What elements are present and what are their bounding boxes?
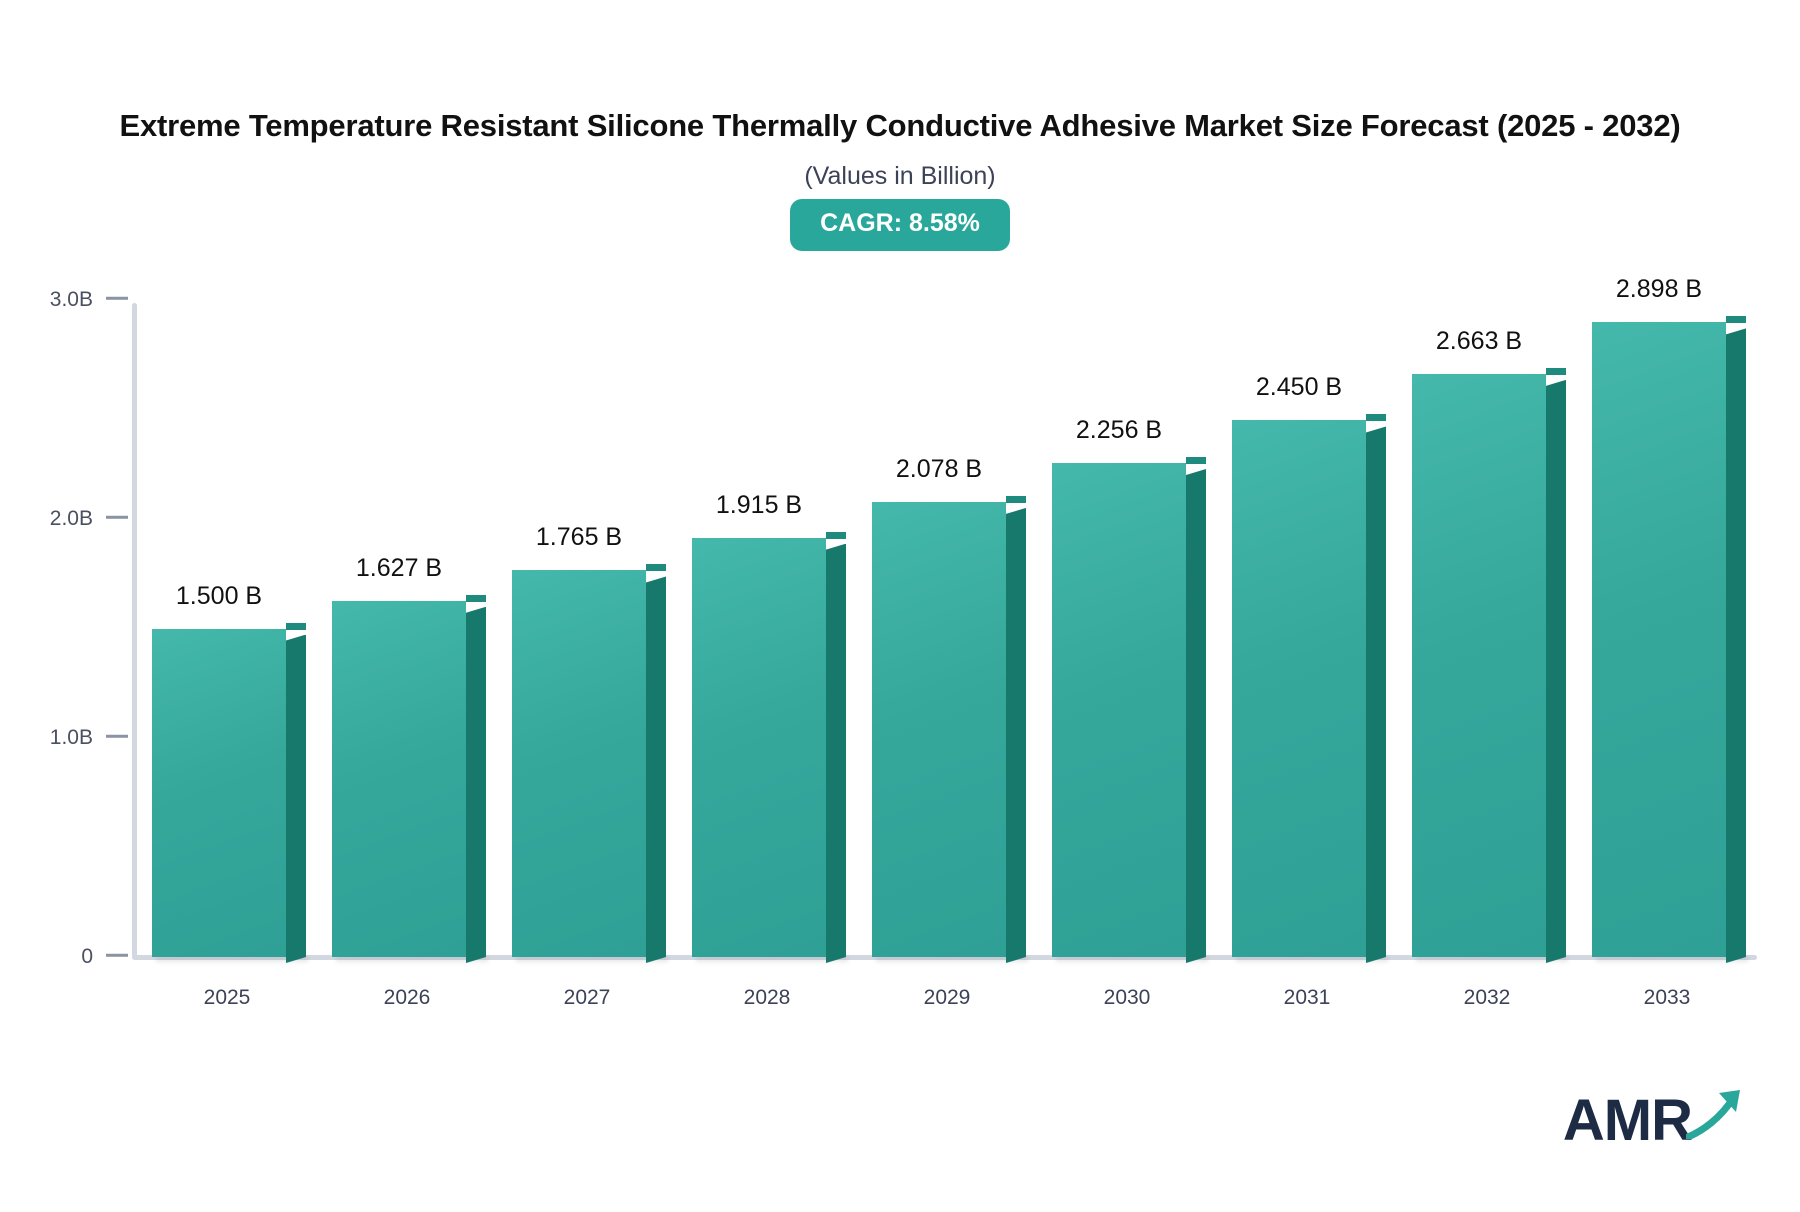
bar-value-label: 1.915 B	[716, 491, 802, 520]
bar[interactable]	[1592, 322, 1726, 957]
bar[interactable]	[1232, 420, 1366, 957]
y-axis-tick: 3.0B	[0, 288, 128, 312]
bar-value-label: 1.500 B	[176, 582, 262, 611]
x-axis-tick-label: 2027	[564, 986, 611, 1010]
y-axis-tick: 1.0B	[0, 726, 128, 750]
bar-top-face	[1726, 316, 1746, 323]
bar-side-face	[826, 544, 846, 963]
amr-logo: AMR	[1563, 1087, 1748, 1150]
bar-front-face	[1412, 374, 1546, 957]
x-axis-tick-label: 2032	[1464, 986, 1511, 1010]
bar[interactable]	[1052, 463, 1186, 957]
bar[interactable]	[512, 570, 646, 957]
y-axis-tick: 0	[0, 945, 128, 969]
bar-value-label: 2.078 B	[896, 455, 982, 484]
bar-value-label: 1.627 B	[356, 554, 442, 583]
x-axis-tick-label: 2028	[744, 986, 791, 1010]
bar-value-label: 2.450 B	[1256, 373, 1342, 402]
bar-front-face	[692, 538, 826, 957]
bar-front-face	[1052, 463, 1186, 957]
y-axis-tick-label: 0	[81, 945, 93, 968]
bar-top-face	[646, 564, 666, 571]
bar-value-label: 2.663 B	[1436, 327, 1522, 356]
growth-arrow-icon	[1686, 1087, 1748, 1144]
y-axis-tick-mark	[106, 297, 128, 300]
x-axis-tick-label: 2031	[1284, 986, 1331, 1010]
chart-plot-area: 01.0B2.0B3.0B 1.500 B1.627 B1.765 B1.915…	[0, 0, 1800, 1212]
bar-front-face	[332, 601, 466, 957]
bar-side-face	[1006, 508, 1026, 963]
logo-text: AMR	[1563, 1092, 1692, 1150]
bar-slot: 2.663 B	[1412, 300, 1546, 957]
bar-front-face	[1592, 322, 1726, 957]
bar-slot: 1.915 B	[692, 300, 826, 957]
bar-value-label: 1.765 B	[536, 523, 622, 552]
y-axis-tick-label: 3.0B	[50, 288, 93, 311]
bar-slot: 2.078 B	[872, 300, 1006, 957]
bar-front-face	[872, 502, 1006, 957]
bar-slot: 1.500 B	[152, 300, 286, 957]
bar-top-face	[466, 595, 486, 602]
bar[interactable]	[872, 502, 1006, 957]
bar-top-face	[1186, 457, 1206, 464]
bar-slot: 2.450 B	[1232, 300, 1366, 957]
bar-side-face	[1546, 380, 1566, 963]
bar-side-face	[466, 607, 486, 963]
bar-top-face	[1366, 414, 1386, 421]
x-axis-tick-label: 2033	[1644, 986, 1691, 1010]
x-axis-tick-label: 2025	[204, 986, 251, 1010]
bar-side-face	[286, 635, 306, 964]
bar[interactable]	[1412, 374, 1546, 957]
chart-page: Extreme Temperature Resistant Silicone T…	[0, 0, 1800, 1212]
y-axis-tick: 2.0B	[0, 507, 128, 531]
bar[interactable]	[332, 601, 466, 957]
bar-top-face	[826, 532, 846, 539]
bar-side-face	[1726, 328, 1746, 963]
x-axis-tick-label: 2030	[1104, 986, 1151, 1010]
y-axis-tick-label: 2.0B	[50, 507, 93, 530]
bar-slot: 1.765 B	[512, 300, 646, 957]
bar-front-face	[152, 629, 286, 958]
bar-top-face	[1546, 368, 1566, 375]
x-axis-tick-label: 2029	[924, 986, 971, 1010]
bar[interactable]	[152, 629, 286, 958]
bar-value-label: 2.256 B	[1076, 416, 1162, 445]
bar-side-face	[1186, 469, 1206, 963]
bar-slot: 1.627 B	[332, 300, 466, 957]
bar-front-face	[512, 570, 646, 957]
bar-value-label: 2.898 B	[1616, 275, 1702, 304]
bar-side-face	[646, 576, 666, 963]
y-axis-tick-mark	[106, 516, 128, 519]
y-axis-tick-mark	[106, 735, 128, 738]
bar-slot: 2.256 B	[1052, 300, 1186, 957]
bar-top-face	[286, 623, 306, 630]
bar-top-face	[1006, 496, 1026, 503]
x-axis-tick-label: 2026	[384, 986, 431, 1010]
y-axis-tick-label: 1.0B	[50, 726, 93, 749]
bar[interactable]	[692, 538, 826, 957]
bar-front-face	[1232, 420, 1366, 957]
bar-series: 1.500 B1.627 B1.765 B1.915 B2.078 B2.256…	[137, 300, 1757, 957]
bar-side-face	[1366, 426, 1386, 963]
bar-slot: 2.898 B	[1592, 300, 1726, 957]
y-axis-tick-mark	[106, 954, 128, 957]
